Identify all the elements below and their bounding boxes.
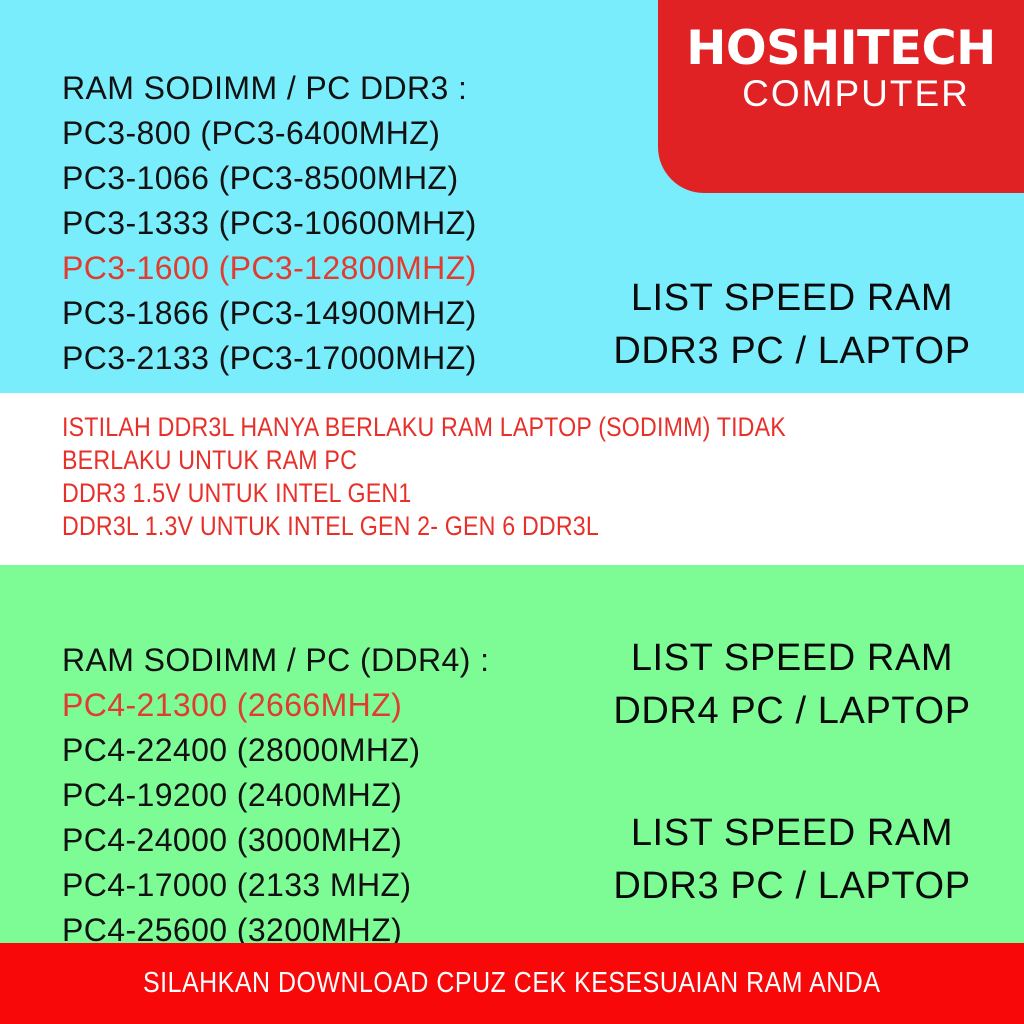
list-item: PC3-1866 (PC3-14900MHZ) <box>62 291 477 336</box>
bottom-banner-text: SILAHKAN DOWNLOAD CPUZ CEK KESESUAIAN RA… <box>143 967 880 1000</box>
ddr3-secondary-heading-line1: LIST SPEED RAM <box>560 807 1024 860</box>
list-item: PC4-24000 (3000MHZ) <box>62 818 489 863</box>
ddr3-speed-list: RAM SODIMM / PC DDR3 : PC3-800 (PC3-6400… <box>62 66 477 381</box>
ddr3-section: HOSHITECH COMPUTER RAM SODIMM / PC DDR3 … <box>0 0 1024 393</box>
brand-tagline: COMPUTER <box>658 73 1024 116</box>
note-line: DDR3 1.5V UNTUK INTEL GEN1 <box>62 477 836 510</box>
list-item: PC3-800 (PC3-6400MHZ) <box>62 111 477 156</box>
note-line: ISTILAH DDR3L HANYA BERLAKU RAM LAPTOP (… <box>62 411 836 444</box>
note-line: DDR3L 1.3V UNTUK INTEL GEN 2- GEN 6 DDR3… <box>62 510 836 543</box>
ddr4-heading-line1: LIST SPEED RAM <box>560 632 1024 685</box>
brand-logo-plate: HOSHITECH COMPUTER <box>658 0 1024 193</box>
list-item: PC3-2133 (PC3-17000MHZ) <box>62 336 477 381</box>
ddr4-heading-line2: DDR4 PC / LAPTOP <box>560 685 1024 738</box>
ddr3-list-title: RAM SODIMM / PC DDR3 : <box>62 66 477 111</box>
ram-speed-infographic: HOSHITECH COMPUTER RAM SODIMM / PC DDR3 … <box>0 0 1024 1024</box>
list-item-highlighted: PC3-1600 (PC3-12800MHZ) <box>62 246 477 291</box>
list-item-highlighted: PC4-21300 (2666MHZ) <box>62 683 489 728</box>
ddr3-heading-line2: DDR3 PC / LAPTOP <box>560 325 1024 378</box>
ddr4-heading: LIST SPEED RAM DDR4 PC / LAPTOP <box>560 632 1024 738</box>
ddr4-speed-list: RAM SODIMM / PC (DDR4) : PC4-21300 (2666… <box>62 638 489 953</box>
bottom-banner: SILAHKAN DOWNLOAD CPUZ CEK KESESUAIAN RA… <box>0 943 1024 1024</box>
bottom-banner-text-wrap: SILAHKAN DOWNLOAD CPUZ CEK KESESUAIAN RA… <box>0 943 1024 1024</box>
note-section: ISTILAH DDR3L HANYA BERLAKU RAM LAPTOP (… <box>0 393 1024 565</box>
list-item: PC4-19200 (2400MHZ) <box>62 773 489 818</box>
ddr4-list-title: RAM SODIMM / PC (DDR4) : <box>62 638 489 683</box>
note-text-block: ISTILAH DDR3L HANYA BERLAKU RAM LAPTOP (… <box>62 411 836 543</box>
list-item: PC4-22400 (28000MHZ) <box>62 728 489 773</box>
list-item: PC3-1333 (PC3-10600MHZ) <box>62 201 477 246</box>
brand-name: HOSHITECH <box>654 24 1024 73</box>
ddr3-secondary-heading-line2: DDR3 PC / LAPTOP <box>560 860 1024 913</box>
list-item: PC4-17000 (2133 MHZ) <box>62 863 489 908</box>
list-item: PC3-1066 (PC3-8500MHZ) <box>62 156 477 201</box>
note-line: BERLAKU UNTUK RAM PC <box>62 444 836 477</box>
ddr3-heading-line1: LIST SPEED RAM <box>560 272 1024 325</box>
ddr3-secondary-heading: LIST SPEED RAM DDR3 PC / LAPTOP <box>560 807 1024 913</box>
ddr3-heading: LIST SPEED RAM DDR3 PC / LAPTOP <box>560 272 1024 378</box>
